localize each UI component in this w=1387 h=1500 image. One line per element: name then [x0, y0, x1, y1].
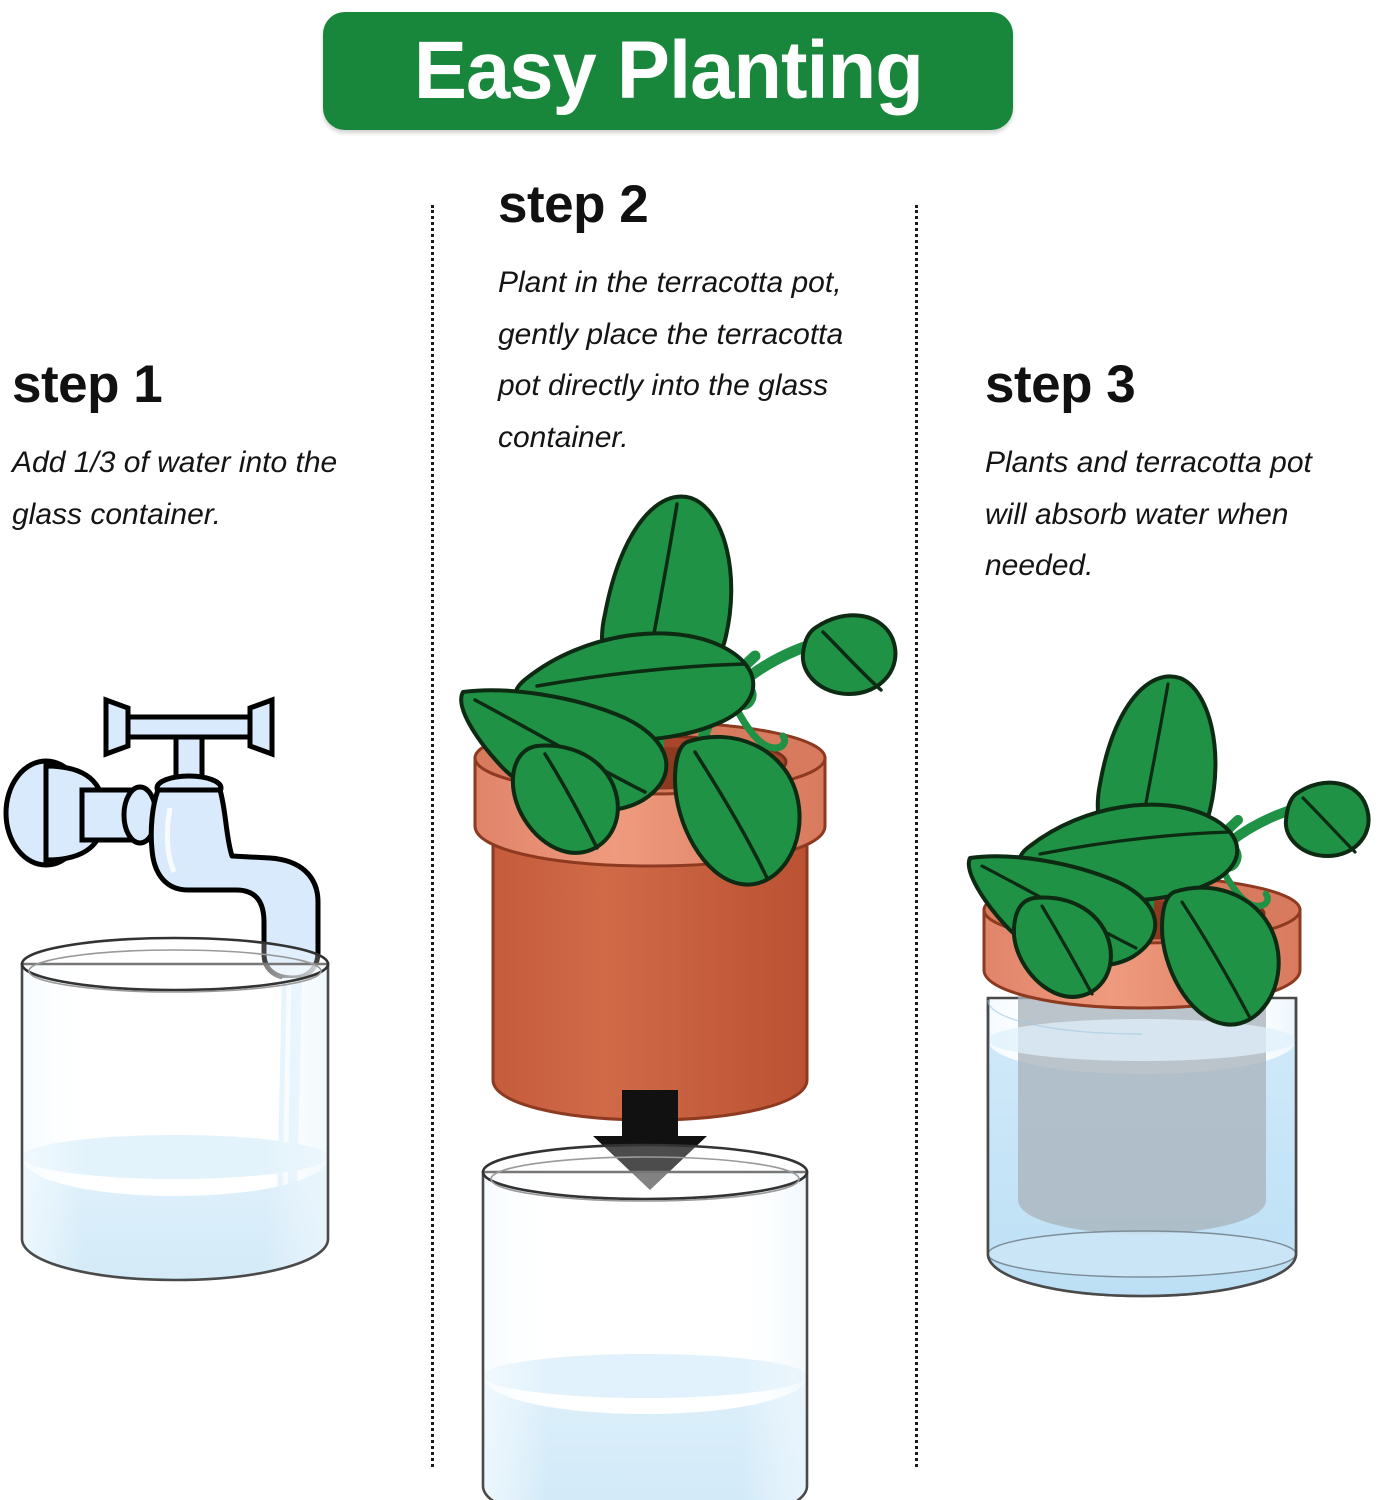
glass-container [988, 980, 1296, 1296]
faucet-icon [6, 700, 318, 978]
divider-right [915, 205, 918, 1467]
title-banner: Easy Planting [323, 12, 1013, 130]
step-1-illustration [0, 690, 400, 1330]
step-1-heading: step 1 [12, 358, 372, 411]
step-3-body: Plants and terracotta pot will absorb wa… [985, 437, 1355, 592]
step-3-illustration [930, 640, 1380, 1340]
step-2-heading: step 2 [498, 178, 868, 231]
step-1-body: Add 1/3 of water into the glass containe… [12, 437, 372, 540]
step-2-illustration [445, 480, 915, 1500]
glass-container [483, 1145, 807, 1500]
glass-container [22, 938, 328, 1280]
step-3-heading: step 3 [985, 358, 1355, 411]
infographic-page: Easy Planting step 1 Add 1/3 of water in… [0, 0, 1387, 1500]
step-2-body: Plant in the terracotta pot, gently plac… [498, 257, 868, 463]
divider-left [431, 205, 434, 1467]
step-3-column: step 3 Plants and terracotta pot will ab… [985, 358, 1355, 592]
step-1-column: step 1 Add 1/3 of water into the glass c… [12, 358, 372, 540]
step-2-column: step 2 Plant in the terracotta pot, gent… [498, 178, 868, 463]
page-title: Easy Planting [413, 30, 922, 112]
